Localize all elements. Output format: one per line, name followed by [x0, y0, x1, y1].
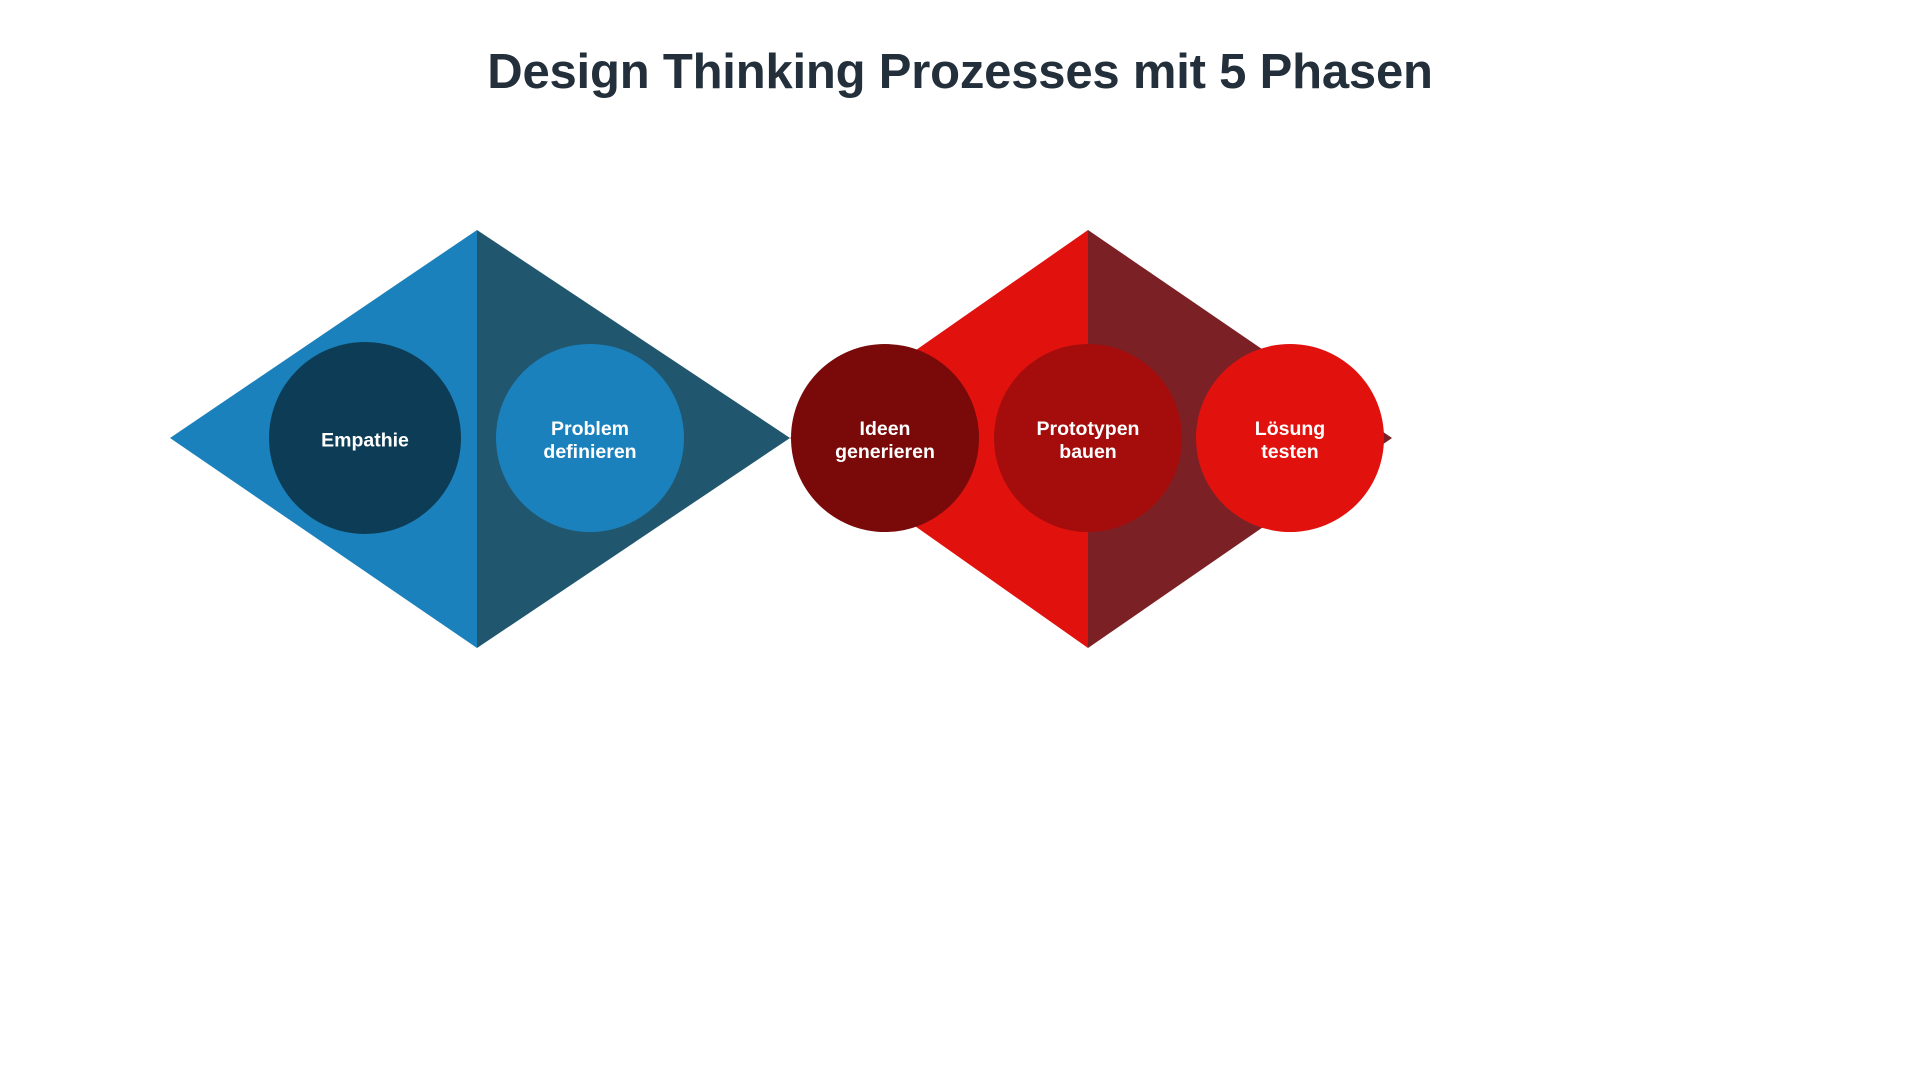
double-diamond-diagram: [0, 0, 1920, 1080]
phase-circle-prototypen-bauen[interactable]: [994, 344, 1182, 532]
phase-circle-ideen-generieren[interactable]: [791, 344, 979, 532]
phase-circle-loesung-testen[interactable]: [1196, 344, 1384, 532]
slide-canvas: Design Thinking Prozesses mit 5 Phasen E…: [0, 0, 1920, 1080]
phase-circle-empathie[interactable]: [269, 342, 461, 534]
phase-circle-problem-definieren[interactable]: [496, 344, 684, 532]
